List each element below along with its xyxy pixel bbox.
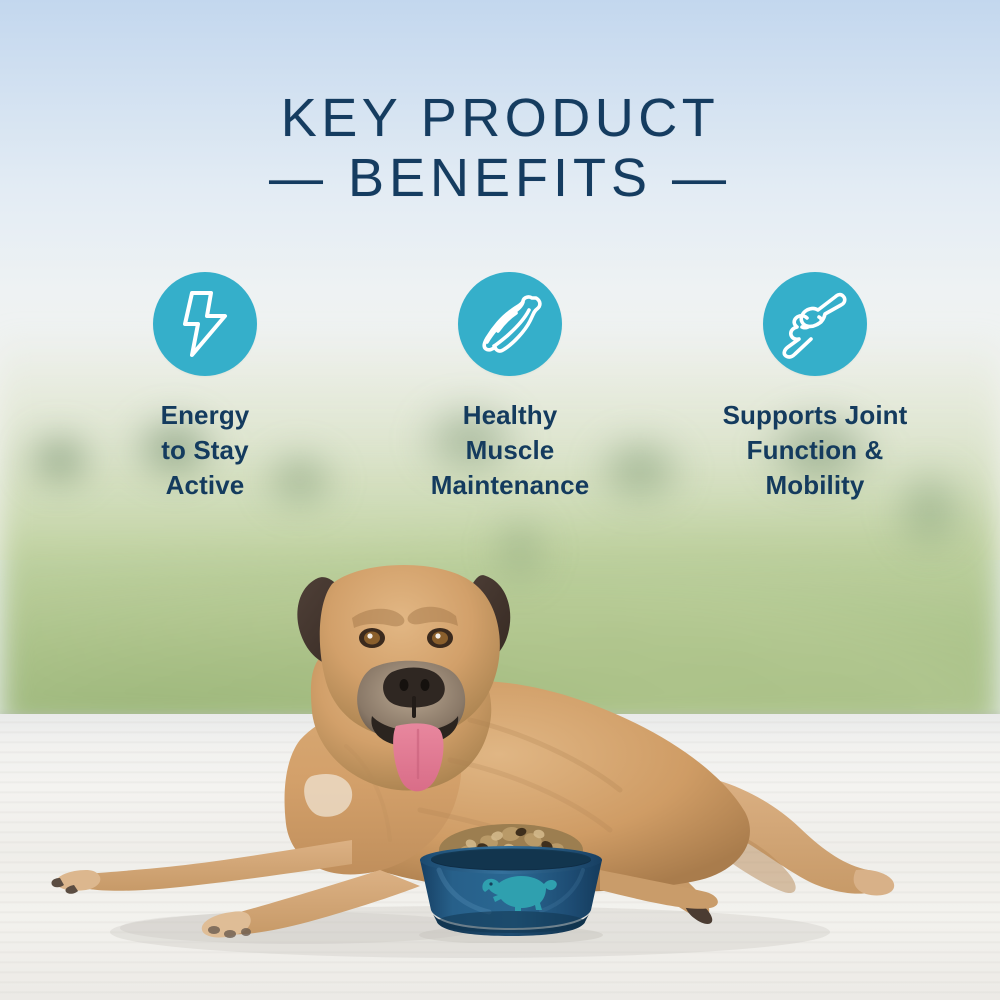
benefit-item-energy: Energy to Stay Active bbox=[70, 272, 340, 503]
benefits-row: Energy to Stay Active Healthy Muscle Mai… bbox=[70, 272, 950, 503]
benefit-label-muscle: Healthy Muscle Maintenance bbox=[431, 398, 590, 503]
benefit-item-muscle: Healthy Muscle Maintenance bbox=[375, 272, 645, 503]
benefit-label-energy: Energy to Stay Active bbox=[161, 398, 250, 503]
lightning-bolt-icon bbox=[153, 272, 257, 376]
benefit-item-joint: Supports Joint Function & Mobility bbox=[680, 272, 950, 503]
benefit-label-joint: Supports Joint Function & Mobility bbox=[723, 398, 908, 503]
muscle-fiber-icon bbox=[458, 272, 562, 376]
product-benefits-graphic: KEY PRODUCT — BENEFITS — Energy to Stay … bbox=[0, 0, 1000, 1000]
knee-joint-bone-icon bbox=[763, 272, 867, 376]
dog-food-bowl bbox=[405, 818, 617, 943]
